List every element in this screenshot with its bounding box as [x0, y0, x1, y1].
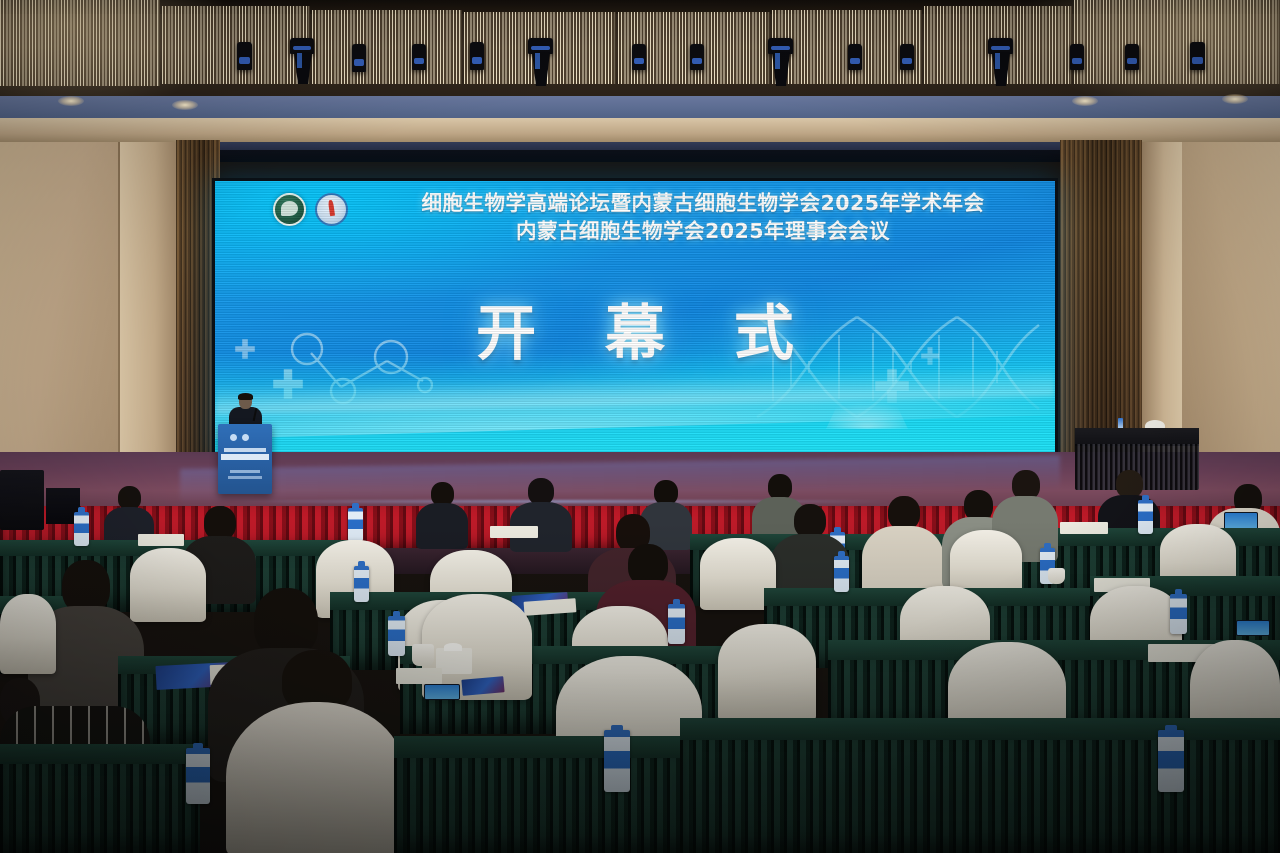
podium-logos — [230, 434, 260, 441]
stage-light — [290, 38, 314, 54]
attendee-head — [1116, 470, 1143, 498]
water-bottle — [834, 556, 849, 592]
water-bottle — [668, 604, 685, 644]
stage-light — [237, 42, 252, 70]
attendee-head — [528, 478, 554, 505]
podium-logo-icon — [242, 434, 249, 441]
wall-cornice — [0, 118, 1280, 142]
smartphone-on-table — [424, 684, 460, 700]
ceiling-downlight — [1072, 96, 1098, 106]
stage-light — [768, 38, 793, 54]
podium-text-line — [221, 454, 269, 460]
audience-table-skirt — [394, 758, 694, 853]
audience-table-skirt — [0, 764, 200, 853]
attendee — [416, 482, 468, 546]
chandelier-strip — [312, 10, 462, 84]
paper-cup — [1048, 568, 1065, 584]
ceiling-downlight — [1222, 94, 1248, 104]
stage-light — [1190, 42, 1205, 70]
attendee-head — [888, 496, 920, 530]
stage-light — [352, 44, 366, 72]
stage-light — [900, 44, 914, 70]
stage-light — [1125, 44, 1139, 70]
water-bottle — [604, 730, 630, 792]
stage-light — [1070, 44, 1084, 70]
stage-light — [848, 44, 862, 70]
ceiling-downlight — [58, 96, 84, 106]
stage-light — [632, 44, 646, 70]
led-screen: 细胞生物学高端论坛暨内蒙古细胞生物学会2025年学术年会 内蒙古细胞生物学会20… — [215, 181, 1055, 463]
speaker-at-podium — [228, 394, 262, 428]
water-bottle — [74, 512, 89, 546]
water-bottle — [186, 748, 210, 804]
podium-text-line — [230, 470, 260, 473]
ceiling-downlight — [172, 100, 198, 110]
podium-text-line — [228, 476, 262, 479]
chair — [0, 594, 56, 674]
attendee-in-white-coat — [226, 650, 406, 853]
stage-light — [528, 38, 553, 54]
conference-hall-photo: 细胞生物学高端论坛暨内蒙古细胞生物学会2025年学术年会 内蒙古细胞生物学会20… — [0, 0, 1280, 853]
speaking-podium — [218, 424, 272, 494]
attendee-body — [226, 702, 406, 853]
notepaper — [396, 668, 442, 684]
attendee-head — [794, 504, 826, 538]
name-card — [490, 526, 538, 538]
phone-screen — [425, 685, 459, 699]
loudspeaker-cabinet — [0, 470, 44, 530]
water-bottle — [1170, 594, 1187, 634]
speaker-hair — [238, 393, 253, 400]
attendee-body — [416, 503, 468, 549]
name-card — [138, 534, 184, 546]
attendee-head — [204, 506, 236, 540]
led-pixel-scanlines — [215, 181, 1055, 463]
phone-screen — [1225, 513, 1257, 529]
podium-text-line — [224, 448, 266, 452]
audience-table-skirt — [680, 740, 1280, 853]
water-bottle — [1158, 730, 1184, 792]
stage-light — [470, 42, 484, 70]
smartphone-on-table — [1236, 620, 1270, 636]
name-card — [1060, 522, 1108, 534]
water-bottle — [1138, 500, 1153, 534]
stage-light — [412, 44, 426, 70]
water-bottle — [348, 508, 363, 542]
podium-logo-icon — [230, 434, 237, 441]
stage-light — [690, 44, 704, 70]
chair — [718, 624, 816, 722]
paper-cup — [412, 644, 434, 666]
phone-screen — [1237, 621, 1269, 635]
stage-light — [988, 38, 1013, 54]
